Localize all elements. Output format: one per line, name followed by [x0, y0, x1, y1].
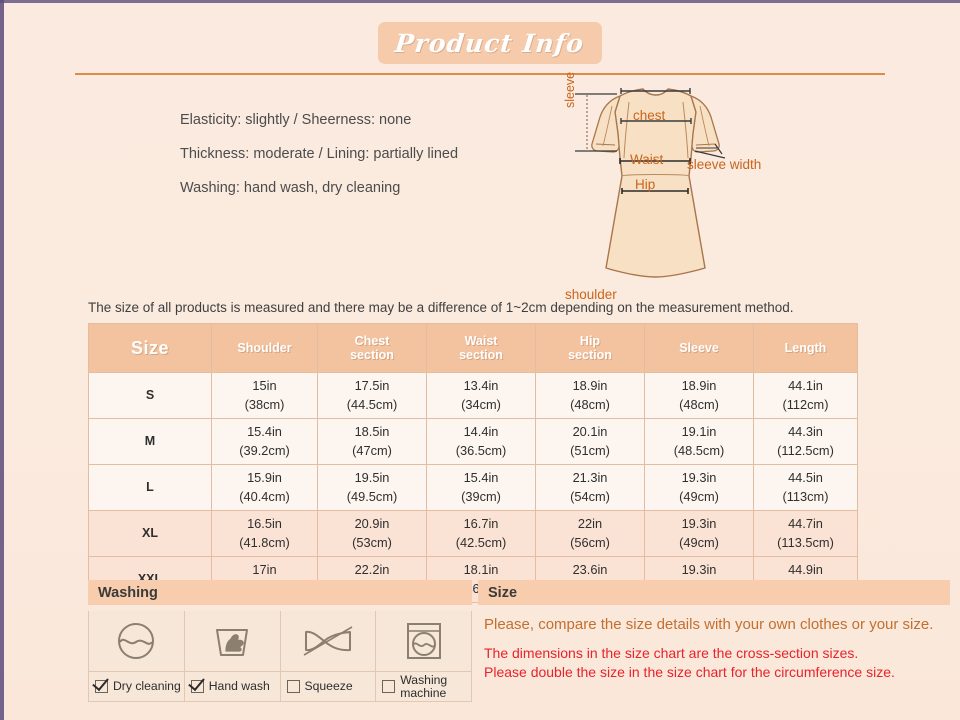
value-in: 15.4in — [427, 469, 535, 488]
column-header-waist-line2: section — [459, 348, 503, 362]
size-panel-title: Size — [478, 580, 950, 605]
value-cm: (112cm) — [754, 396, 857, 415]
column-header-waist: Waist section — [427, 324, 536, 373]
value-in: 16.5in — [212, 515, 317, 534]
column-header-chest-line2: section — [350, 348, 394, 362]
value-in: 19.1in — [645, 423, 753, 442]
size-chart-table: Size Shoulder Chest section Waist sectio… — [88, 323, 858, 603]
cell-sleeve: 18.9in (48cm) — [645, 373, 754, 419]
hand-wash-label: Hand wash — [209, 680, 270, 693]
column-header-length: Length — [754, 324, 858, 373]
cell-hip: 18.9in (48cm) — [536, 373, 645, 419]
value-cm: (113.5cm) — [754, 534, 857, 553]
size-compare-note: Please, compare the size details with yo… — [484, 614, 950, 637]
value-in: 21.3in — [536, 469, 644, 488]
diagram-label-sleeve-width: sleeve width — [687, 157, 761, 172]
washing-panel-title: Washing — [88, 580, 472, 605]
size-panel-body: Please, compare the size details with yo… — [478, 605, 950, 682]
value-cm: (44.5cm) — [318, 396, 426, 415]
value-in: 19.3in — [645, 469, 753, 488]
size-chart-body: S 15in (38cm) 17.5in (44.5cm) 13.4in (34… — [89, 373, 858, 603]
column-header-chest: Chest section — [318, 324, 427, 373]
cell-length: 44.5in (113cm) — [754, 465, 858, 511]
washing-machine-label-row[interactable]: Washing machine — [376, 671, 471, 701]
washing-icon-grid: Dry cleaning Hand wash — [88, 611, 472, 702]
attribute-elasticity: Elasticity: slightly / Sheerness: none — [180, 112, 540, 128]
dress-measurement-diagram: shoulder chest Waist Hip sleeve width sl… — [565, 72, 785, 287]
value-cm: (53cm) — [318, 534, 426, 553]
value-cm: (49cm) — [645, 488, 753, 507]
value-in: 19.3in — [645, 515, 753, 534]
table-row: S 15in (38cm) 17.5in (44.5cm) 13.4in (34… — [89, 373, 858, 419]
value-in: 19.3in — [645, 561, 753, 580]
value-cm: (113cm) — [754, 488, 857, 507]
page-left-edge — [0, 0, 4, 720]
value-in: 18.1in — [427, 561, 535, 580]
diagram-label-hip: Hip — [635, 177, 655, 192]
value-cm: (40.4cm) — [212, 488, 317, 507]
diagram-label-sleeve: sleeve — [563, 72, 577, 108]
washing-option-hand-wash[interactable]: Hand wash — [185, 611, 281, 701]
dress-illustration — [565, 72, 785, 287]
column-header-sleeve: Sleeve — [645, 324, 754, 373]
cell-hip: 22in (56cm) — [536, 511, 645, 557]
column-header-shoulder: Shoulder — [212, 324, 318, 373]
hand-wash-label-row[interactable]: Hand wash — [185, 671, 280, 701]
cell-waist: 16.7in (42.5cm) — [427, 511, 536, 557]
column-header-chest-line1: Chest — [355, 334, 390, 348]
value-cm: (34cm) — [427, 396, 535, 415]
size-panel: Size Please, compare the size details wi… — [478, 580, 950, 682]
value-in: 18.5in — [318, 423, 426, 442]
value-cm: (54cm) — [536, 488, 644, 507]
table-row: M 15.4in (39.2cm) 18.5in (47cm) 14.4in (… — [89, 419, 858, 465]
value-in: 44.5in — [754, 469, 857, 488]
cell-hip: 21.3in (54cm) — [536, 465, 645, 511]
value-in: 44.9in — [754, 561, 857, 580]
washing-option-washing-machine[interactable]: Washing machine — [376, 611, 471, 701]
hand-wash-icon — [185, 611, 280, 671]
cell-size: S — [89, 373, 212, 419]
cell-shoulder: 16.5in (41.8cm) — [212, 511, 318, 557]
washing-option-squeeze[interactable]: Squeeze — [281, 611, 377, 701]
column-header-waist-line1: Waist — [465, 334, 498, 348]
page-title: Product Info — [394, 29, 586, 58]
cell-chest: 17.5in (44.5cm) — [318, 373, 427, 419]
table-row: L 15.9in (40.4cm) 19.5in (49.5cm) 15.4in… — [89, 465, 858, 511]
value-in: 44.7in — [754, 515, 857, 534]
product-info-page: Product Info Elasticity: slightly / Shee… — [0, 0, 960, 720]
page-title-badge: Product Info — [378, 22, 602, 64]
value-in: 23.6in — [536, 561, 644, 580]
cell-hip: 20.1in (51cm) — [536, 419, 645, 465]
cell-waist: 15.4in (39cm) — [427, 465, 536, 511]
table-header-row: Size Shoulder Chest section Waist sectio… — [89, 324, 858, 373]
cell-length: 44.3in (112.5cm) — [754, 419, 858, 465]
product-attributes: Elasticity: slightly / Sheerness: none T… — [180, 112, 540, 214]
dry-cleaning-checkbox[interactable] — [95, 680, 108, 693]
column-header-size: Size — [89, 324, 212, 373]
value-cm: (48.5cm) — [645, 442, 753, 461]
table-row: XL 16.5in (41.8cm) 20.9in (53cm) 16.7in … — [89, 511, 858, 557]
cell-shoulder: 15.9in (40.4cm) — [212, 465, 318, 511]
cell-size: XL — [89, 511, 212, 557]
cell-length: 44.7in (113.5cm) — [754, 511, 858, 557]
value-cm: (51cm) — [536, 442, 644, 461]
value-in: 22in — [536, 515, 644, 534]
value-in: 16.7in — [427, 515, 535, 534]
value-in: 44.3in — [754, 423, 857, 442]
size-crosssection-note: The dimensions in the size chart are the… — [484, 644, 950, 663]
value-in: 44.1in — [754, 377, 857, 396]
value-cm: (39.2cm) — [212, 442, 317, 461]
value-in: 18.9in — [536, 377, 644, 396]
value-in: 15.4in — [212, 423, 317, 442]
cell-sleeve: 19.3in (49cm) — [645, 465, 754, 511]
washing-machine-icon — [376, 611, 471, 671]
dry-cleaning-label-row[interactable]: Dry cleaning — [89, 671, 184, 701]
value-in: 14.4in — [427, 423, 535, 442]
value-in: 20.1in — [536, 423, 644, 442]
washing-panel: Washing Dry cleaning — [88, 580, 472, 702]
no-squeeze-icon — [281, 611, 376, 671]
washing-machine-checkbox[interactable] — [382, 680, 395, 693]
value-cm: (48cm) — [536, 396, 644, 415]
diagram-label-chest: chest — [633, 108, 665, 123]
diagram-label-waist: Waist — [630, 152, 663, 167]
value-cm: (38cm) — [212, 396, 317, 415]
dry-cleaning-label: Dry cleaning — [113, 680, 181, 693]
cell-chest: 20.9in (53cm) — [318, 511, 427, 557]
value-in: 19.5in — [318, 469, 426, 488]
value-in: 17in — [212, 561, 317, 580]
value-in: 13.4in — [427, 377, 535, 396]
value-cm: (49cm) — [645, 534, 753, 553]
value-cm: (49.5cm) — [318, 488, 426, 507]
value-cm: (36.5cm) — [427, 442, 535, 461]
value-cm: (112.5cm) — [754, 442, 857, 461]
value-in: 18.9in — [645, 377, 753, 396]
value-in: 17.5in — [318, 377, 426, 396]
value-cm: (39cm) — [427, 488, 535, 507]
squeeze-label-row[interactable]: Squeeze — [281, 671, 376, 701]
cell-sleeve: 19.3in (49cm) — [645, 511, 754, 557]
column-header-hip-line1: Hip — [580, 334, 600, 348]
cell-chest: 18.5in (47cm) — [318, 419, 427, 465]
cell-size: L — [89, 465, 212, 511]
squeeze-label: Squeeze — [305, 680, 353, 693]
value-cm: (42.5cm) — [427, 534, 535, 553]
dry-cleaning-icon — [89, 611, 184, 671]
washing-machine-label: Washing machine — [400, 674, 447, 700]
washing-machine-label-line2: machine — [400, 686, 446, 700]
attribute-thickness: Thickness: moderate / Lining: partially … — [180, 146, 540, 162]
squeeze-checkbox[interactable] — [287, 680, 300, 693]
cell-shoulder: 15.4in (39.2cm) — [212, 419, 318, 465]
value-cm: (56cm) — [536, 534, 644, 553]
cell-sleeve: 19.1in (48.5cm) — [645, 419, 754, 465]
cell-waist: 14.4in (36.5cm) — [427, 419, 536, 465]
measurement-note: The size of all products is measured and… — [88, 300, 794, 315]
size-circumference-note: Please double the size in the size chart… — [484, 663, 950, 682]
value-cm: (48cm) — [645, 396, 753, 415]
cell-shoulder: 15in (38cm) — [212, 373, 318, 419]
value-in: 20.9in — [318, 515, 426, 534]
value-cm: (41.8cm) — [212, 534, 317, 553]
column-header-hip-line2: section — [568, 348, 612, 362]
value-in: 15.9in — [212, 469, 317, 488]
cell-length: 44.1in (112cm) — [754, 373, 858, 419]
value-in: 15in — [212, 377, 317, 396]
hand-wash-checkbox[interactable] — [191, 680, 204, 693]
attribute-washing: Washing: hand wash, dry cleaning — [180, 180, 540, 196]
value-in: 22.2in — [318, 561, 426, 580]
page-top-edge — [0, 0, 960, 3]
value-cm: (47cm) — [318, 442, 426, 461]
washing-option-dry-cleaning[interactable]: Dry cleaning — [89, 611, 185, 701]
cell-waist: 13.4in (34cm) — [427, 373, 536, 419]
cell-chest: 19.5in (49.5cm) — [318, 465, 427, 511]
cell-size: M — [89, 419, 212, 465]
column-header-hip: Hip section — [536, 324, 645, 373]
